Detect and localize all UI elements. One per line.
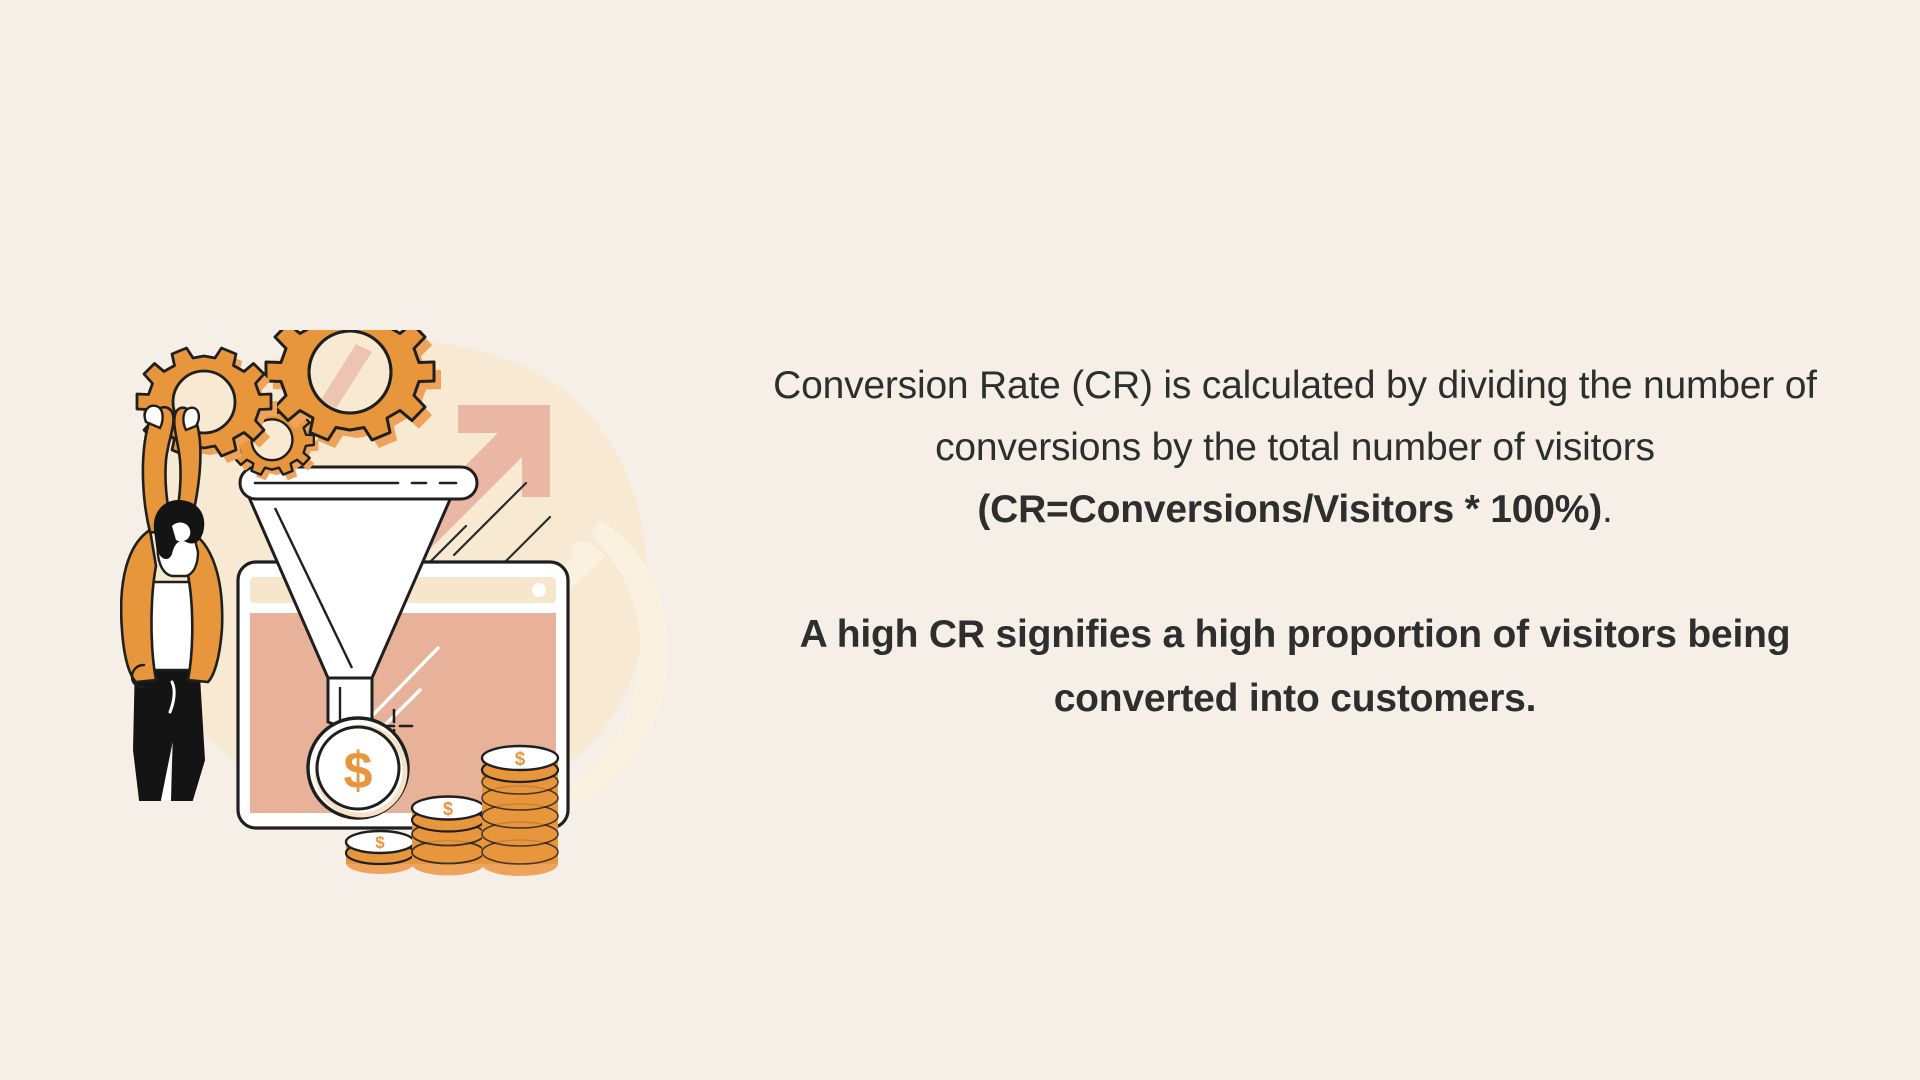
coin-dollar-symbol: $ xyxy=(344,742,373,800)
slide-root: $ xyxy=(0,0,1920,1080)
definition-lead: Conversion Rate (CR) is calculated by di… xyxy=(773,364,1817,469)
paragraph-insight: A high CR signifies a high proportion of… xyxy=(740,603,1850,731)
text-column: Conversion Rate (CR) is calculated by di… xyxy=(740,355,1850,731)
dollar-coin-large: $ xyxy=(308,718,408,818)
svg-text:$: $ xyxy=(375,833,385,852)
conversion-funnel-illustration: $ xyxy=(120,330,680,900)
svg-text:$: $ xyxy=(443,799,453,819)
definition-trailing-period: . xyxy=(1602,488,1613,531)
coin-stack-small: $ xyxy=(346,831,414,874)
svg-text:$: $ xyxy=(515,749,526,770)
coin-stack-tall: $ xyxy=(482,746,558,876)
conversion-rate-formula: (CR=Conversions/Visitors * 100%) xyxy=(977,488,1602,531)
coin-stack-medium: $ xyxy=(412,797,484,876)
paragraph-definition: Conversion Rate (CR) is calculated by di… xyxy=(740,355,1850,541)
